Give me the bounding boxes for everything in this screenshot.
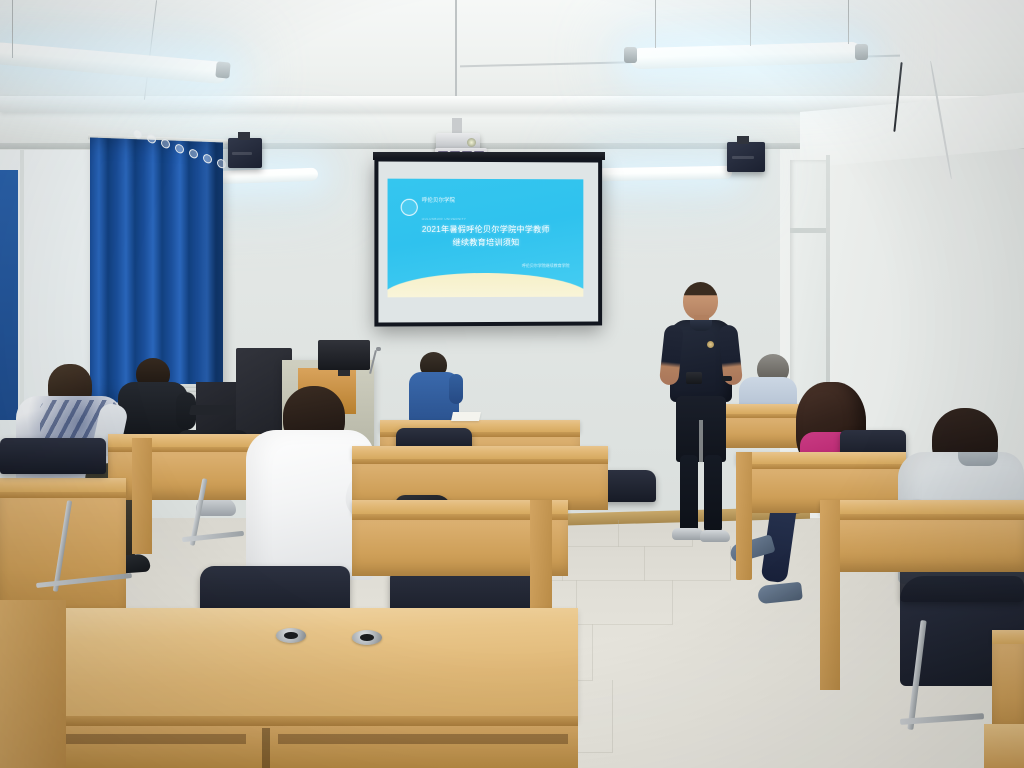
ceiling-cable	[455, 0, 457, 96]
foreground-desk-right	[984, 724, 1024, 768]
cable-grommet	[352, 630, 382, 645]
alcove-shelf	[790, 228, 828, 233]
attendee-4-arm	[449, 374, 463, 404]
slide-title-line2: 继续教育培训须知	[388, 236, 584, 249]
speaker-bracket	[737, 136, 749, 144]
speaker-bracket	[238, 132, 250, 140]
presenter-phone	[686, 372, 702, 384]
light-hanger	[750, 0, 751, 46]
foreground-desk-left	[0, 600, 66, 768]
slide-logo-textblock: 呼伦贝尔学院 HULUNBUIR UNIVERSITY	[422, 189, 467, 225]
slide-logo: 呼伦贝尔学院 HULUNBUIR UNIVERSITY	[401, 189, 467, 225]
light-hanger	[848, 0, 849, 44]
keyboard-on-desk	[189, 405, 235, 415]
wall-speaker-right	[727, 142, 765, 172]
slide-title-line1: 2021年暑假呼伦贝尔学院中学教师	[388, 223, 584, 236]
presentation-slide: 呼伦贝尔学院 HULUNBUIR UNIVERSITY 2021年暑假呼伦贝尔学…	[388, 179, 584, 298]
light-hanger	[655, 0, 656, 48]
cable-grommet	[276, 628, 306, 643]
alcove-frame	[826, 155, 830, 413]
presenter-collar	[690, 320, 712, 331]
attendee-7-collar	[958, 452, 998, 466]
desk-side-panel	[820, 500, 840, 690]
presenter-badge-icon	[707, 341, 714, 348]
wall-alcove	[790, 160, 828, 410]
light-hanger	[12, 0, 13, 58]
university-seal-icon	[401, 198, 418, 215]
desk-side-panel	[132, 438, 152, 554]
projector-mount	[452, 118, 462, 134]
microphone-head	[376, 347, 381, 351]
ceiling-light-4	[597, 166, 732, 181]
monitor-stand	[338, 370, 350, 376]
light-end-cap	[624, 47, 637, 63]
projection-screen: 呼伦贝尔学院 HULUNBUIR UNIVERSITY 2021年暑假呼伦贝尔学…	[374, 157, 602, 326]
slide-footer: 呼伦贝尔学院继续教育学院	[522, 263, 570, 269]
light-end-cap	[855, 44, 868, 60]
presenter-lower-leg	[680, 455, 698, 533]
desktop-monitor	[318, 340, 370, 370]
desk-side-panel	[736, 452, 752, 580]
chair-back	[0, 438, 106, 474]
presenter-leg-gap	[699, 420, 703, 464]
slide-decoration-ribbon	[388, 272, 584, 297]
presenter-shoe	[700, 530, 730, 542]
organization-name: 呼伦贝尔学院	[422, 198, 455, 204]
slide-title: 2021年暑假呼伦贝尔学院中学教师 继续教育培训须知	[388, 223, 584, 249]
presenter-watch-icon	[722, 376, 732, 381]
organization-name-sub: HULUNBUIR UNIVERSITY	[422, 217, 467, 221]
light-end-cap	[215, 61, 230, 78]
wall-speaker-left	[228, 138, 262, 168]
screen-surface: 呼伦贝尔学院 HULUNBUIR UNIVERSITY 2021年暑假呼伦贝尔学…	[378, 161, 598, 322]
classroom-photo: 呼伦贝尔学院 HULUNBUIR UNIVERSITY 2021年暑假呼伦贝尔学…	[0, 0, 1024, 768]
presenter-lower-leg	[704, 455, 722, 533]
window-blue-strip	[0, 170, 18, 420]
notebook-on-desk	[451, 412, 481, 421]
